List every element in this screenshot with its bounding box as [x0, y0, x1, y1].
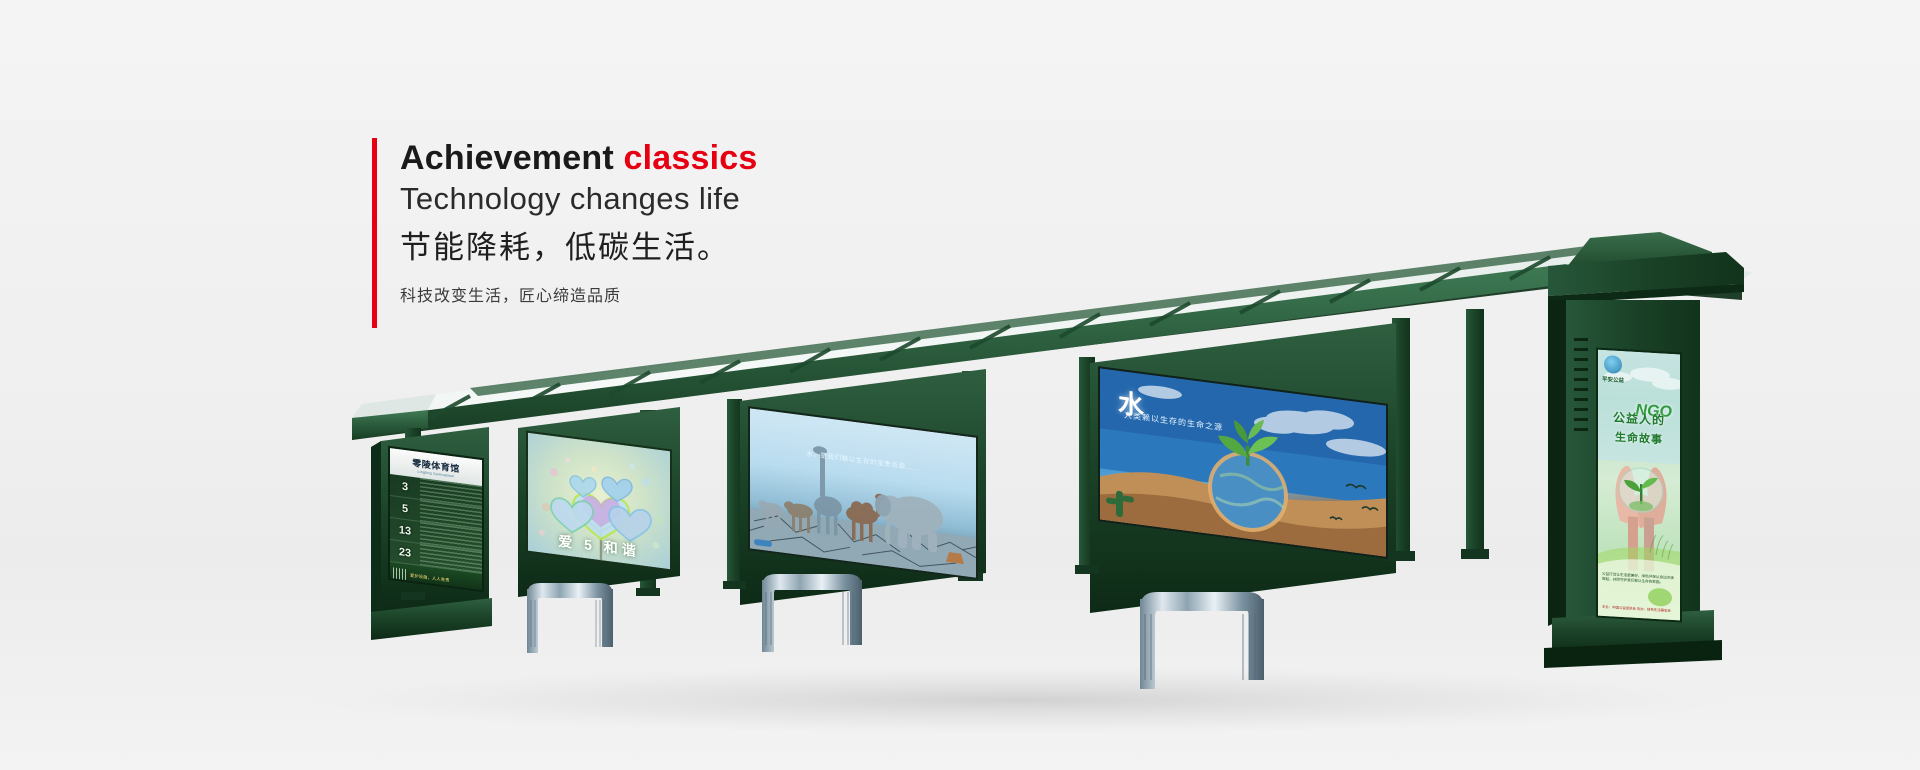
pylon-logo-icon	[1604, 355, 1622, 374]
pylon-brand-name: 平安公益	[1602, 375, 1624, 384]
animals-artwork	[750, 408, 978, 580]
lightbox-frame-schedule-side	[371, 441, 381, 620]
lightbox-pylon-ad[interactable]: 平安公益 NGO 公益人的 生命故事 公益行动让生活更美好，绿色环保从身边点滴做…	[1596, 347, 1682, 622]
post-7	[1466, 309, 1484, 553]
lightbox-schedule-panel[interactable]: 零陵体育馆 Lingling Gymnasium 3 5 13 23 爱护	[388, 446, 484, 592]
footer-notice: 爱护设施，人人有责	[410, 572, 479, 586]
ground-shadow	[300, 666, 1740, 734]
bench-1	[527, 583, 613, 653]
route-number: 23	[390, 545, 420, 561]
route-number: 3	[390, 479, 420, 495]
product-render-scene: Achievement classics Technology changes …	[0, 0, 1920, 770]
pylon-body-left	[1548, 300, 1566, 626]
caption-right: 和谐	[604, 539, 640, 560]
route-number: 13	[390, 523, 420, 539]
lightbox-animals-ad[interactable]: 水，是我们赖以生存的宝贵资源……	[748, 406, 978, 580]
bench-2	[762, 574, 862, 652]
lightbox-heart-tree-ad[interactable]: 爱 5 和谐	[526, 431, 672, 572]
post-3	[727, 399, 742, 585]
canopy-rear-band	[470, 243, 1618, 396]
caption-left: 爱	[558, 533, 576, 551]
caption-number: 5	[584, 536, 596, 554]
route-number: 5	[390, 501, 420, 517]
schedule-route-rows: 3 5 13 23	[390, 474, 482, 574]
footer-decoration	[393, 567, 407, 580]
